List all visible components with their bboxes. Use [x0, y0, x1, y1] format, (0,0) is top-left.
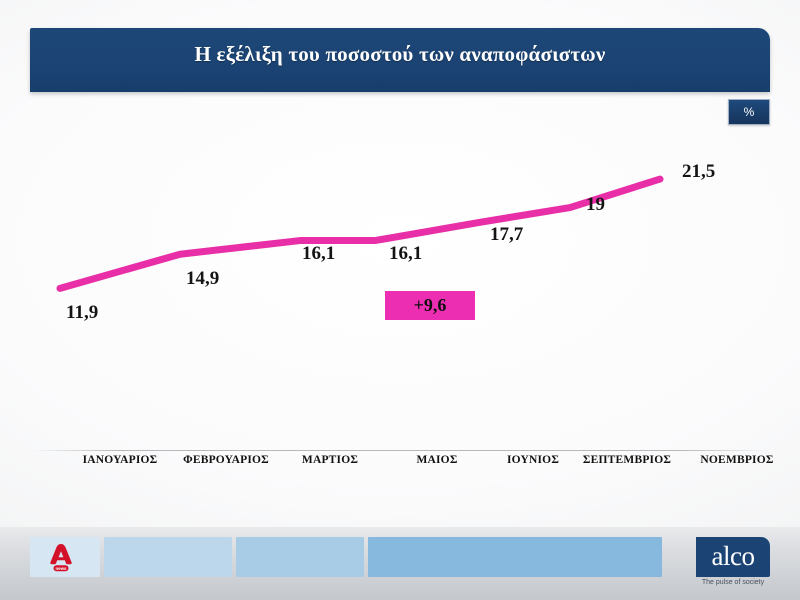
data-point-label: 16,1	[389, 243, 422, 265]
footer-block-group: news alco The pulse of society	[30, 537, 770, 577]
page-title: Η εξέλιξη του ποσοστού των αναποφάσιστων	[30, 42, 770, 67]
percent-unit-label: %	[744, 105, 755, 119]
delta-badge-label: +9,6	[414, 295, 447, 316]
percent-unit-badge: %	[728, 99, 770, 125]
footer-block-1: news	[30, 537, 100, 577]
x-axis-labels: ΙΑΝΟΥΑΡΙΟΣΦΕΒΡΟΥΑΡΙΟΣΜΑΡΤΙΟΣΜΑΙΟΣΙΟΥΝΙΟΣ…	[30, 454, 770, 480]
data-point-label: 14,9	[186, 268, 219, 290]
x-axis-label-4: ΜΑΙΟΣ	[416, 454, 457, 466]
x-axis-label-6: ΣΕΠΤΕΜΒΡΙΟΣ	[583, 454, 671, 466]
x-axis-label-5: ΙΟΥΝΙΟΣ	[507, 454, 559, 466]
data-point-label: 17,7	[490, 224, 523, 246]
header-band: Η εξέλιξη του ποσοστού των αναποφάσιστων	[30, 28, 770, 92]
footer-block-2	[104, 537, 232, 577]
series-line-undecided	[60, 179, 660, 288]
data-point-label: 16,1	[302, 243, 335, 265]
footer-block-3	[236, 537, 364, 577]
data-point-label: 19	[586, 194, 605, 216]
x-axis-label-1: ΙΑΝΟΥΑΡΙΟΣ	[83, 454, 158, 466]
alco-logo: alco	[696, 537, 770, 577]
footer-bar: news alco The pulse of society	[0, 527, 800, 600]
axis-separator-line	[30, 450, 770, 451]
alpha-news-logo-icon: news	[44, 540, 78, 574]
delta-badge: +9,6	[385, 291, 475, 320]
alco-tagline: The pulse of society	[696, 579, 770, 586]
x-axis-label-2: ΦΕΒΡΟΥΑΡΙΟΣ	[183, 454, 269, 466]
footer-block-4	[368, 537, 662, 577]
slide-canvas: Η εξέλιξη του ποσοστού των αναποφάσιστων…	[0, 0, 800, 600]
data-point-label: 21,5	[682, 161, 715, 183]
x-axis-label-3: ΜΑΡΤΙΟΣ	[302, 454, 358, 466]
data-point-label: 11,9	[66, 302, 98, 324]
alco-wordmark: alco	[712, 543, 755, 570]
x-axis-label-7: ΝΟΕΜΒΡΙΟΣ	[700, 454, 773, 466]
svg-text:news: news	[56, 566, 68, 571]
